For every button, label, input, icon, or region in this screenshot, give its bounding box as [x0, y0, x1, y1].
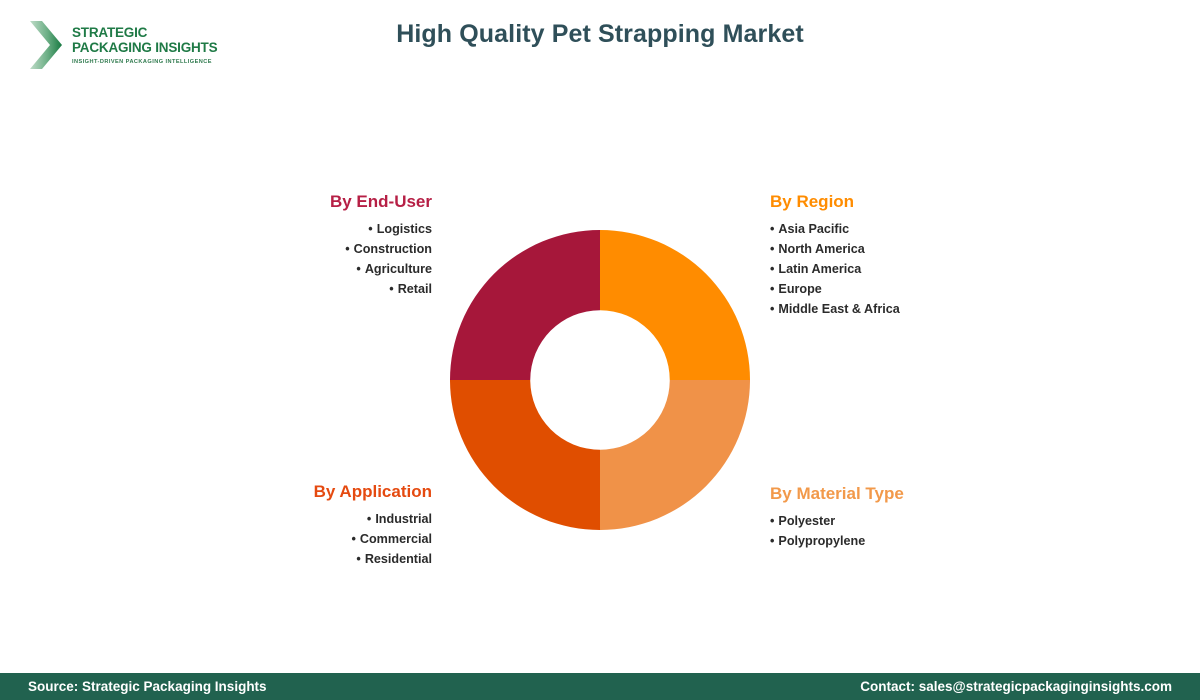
list-item-label: Retail [398, 282, 432, 296]
bullet-icon: • [770, 302, 774, 316]
bullet-icon: • [356, 552, 360, 566]
segment-list-material-type: •Polyester •Polypropylene [770, 511, 1070, 551]
segment-block-region: By Region •Asia Pacific •North America •… [770, 192, 1070, 319]
list-item-label: Agriculture [365, 262, 432, 276]
bullet-icon: • [367, 512, 371, 526]
list-item-label: Industrial [375, 512, 432, 526]
segment-title-application: By Application [190, 482, 432, 502]
list-item: •North America [770, 239, 1070, 259]
list-item: •Commercial [190, 529, 432, 549]
page-title: High Quality Pet Strapping Market [0, 20, 1200, 49]
segment-list-region: •Asia Pacific •North America •Latin Amer… [770, 219, 1070, 319]
bullet-icon: • [368, 222, 372, 236]
list-item-label: Middle East & Africa [778, 302, 899, 316]
list-item: •Construction [210, 239, 432, 259]
segment-block-material-type: By Material Type •Polyester •Polypropyle… [770, 484, 1070, 551]
donut-slice-by-application[interactable] [450, 380, 600, 530]
bullet-icon: • [770, 534, 774, 548]
segment-block-end-user: By End-User •Logistics •Construction •Ag… [210, 192, 432, 299]
list-item-label: Europe [778, 282, 821, 296]
segment-title-region: By Region [770, 192, 1070, 212]
bullet-icon: • [770, 262, 774, 276]
list-item-label: Commercial [360, 532, 432, 546]
list-item: •Asia Pacific [770, 219, 1070, 239]
bullet-icon: • [389, 282, 393, 296]
footer-source: Source: Strategic Packaging Insights [28, 679, 267, 694]
footer-contact[interactable]: Contact: sales@strategicpackaginginsight… [860, 679, 1172, 694]
footer-bar: Source: Strategic Packaging Insights Con… [0, 673, 1200, 700]
list-item-label: North America [778, 242, 864, 256]
donut-slice-by-end-user[interactable] [450, 230, 600, 380]
donut-chart-svg [450, 230, 750, 530]
list-item: •Europe [770, 279, 1070, 299]
segment-title-material-type: By Material Type [770, 484, 1070, 504]
list-item-label: Latin America [778, 262, 861, 276]
bullet-icon: • [770, 242, 774, 256]
segment-list-end-user: •Logistics •Construction •Agriculture •R… [210, 219, 432, 299]
bullet-icon: • [351, 532, 355, 546]
list-item: •Residential [190, 549, 432, 569]
list-item: •Logistics [210, 219, 432, 239]
list-item-label: Logistics [377, 222, 432, 236]
segment-list-application: •Industrial •Commercial •Residential [190, 509, 432, 569]
segment-block-application: By Application •Industrial •Commercial •… [190, 482, 432, 569]
bullet-icon: • [356, 262, 360, 276]
list-item: •Agriculture [210, 259, 432, 279]
list-item-label: Polyester [778, 514, 835, 528]
list-item-label: Residential [365, 552, 432, 566]
bullet-icon: • [770, 222, 774, 236]
list-item: •Industrial [190, 509, 432, 529]
bullet-icon: • [770, 514, 774, 528]
list-item: •Retail [210, 279, 432, 299]
donut-slice-by-material-type[interactable] [600, 380, 750, 530]
list-item: •Polyester [770, 511, 1070, 531]
logo-tagline: INSIGHT-DRIVEN PACKAGING INTELLIGENCE [72, 60, 217, 66]
list-item: •Polypropylene [770, 531, 1070, 551]
list-item-label: Asia Pacific [778, 222, 849, 236]
list-item: •Middle East & Africa [770, 299, 1070, 319]
segment-title-end-user: By End-User [210, 192, 432, 212]
donut-chart [450, 230, 750, 530]
list-item: •Latin America [770, 259, 1070, 279]
bullet-icon: • [770, 282, 774, 296]
list-item-label: Polypropylene [778, 534, 865, 548]
donut-slice-by-region[interactable] [600, 230, 750, 380]
list-item-label: Construction [354, 242, 432, 256]
bullet-icon: • [345, 242, 349, 256]
